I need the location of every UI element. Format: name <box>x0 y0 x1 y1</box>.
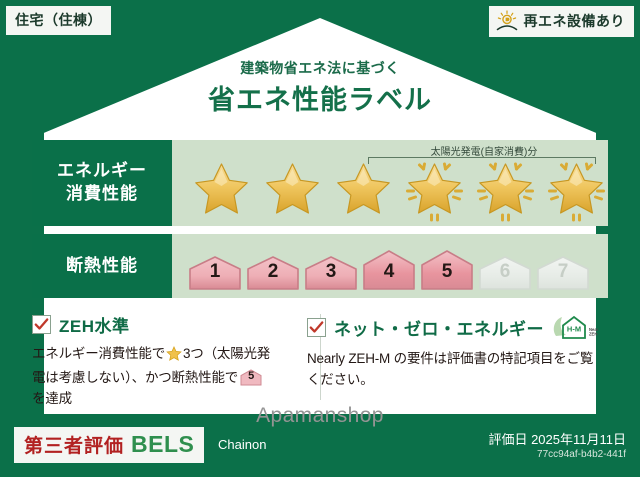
evaluation-id: 77cc94af-b4b2-441f <box>537 449 626 460</box>
bels-jp-label: 第三者評価 <box>24 431 124 458</box>
inline-grade-value: 5 <box>240 368 262 385</box>
energy-key-line1: エネルギー <box>57 160 147 183</box>
solar-annotation-label: 太陽光発電(自家消費)分 <box>368 143 600 158</box>
insulation-key-label: 断熱性能 <box>66 255 138 278</box>
insulation-grade-4: 4 <box>362 249 416 291</box>
bels-badge: 第三者評価 BELS <box>14 427 204 463</box>
zeh-m-logo-icon: H-M Nearly ZEH-M <box>552 312 598 342</box>
insulation-grade-6: 6 <box>478 255 532 291</box>
insulation-grade-2: 2 <box>246 255 300 291</box>
energy-performance-label: 住宅（住棟） 再エネ設備あり 建築物省エネ法に基づく 省エネ性能ラベル <box>0 0 640 477</box>
svg-text:ZEH-M: ZEH-M <box>589 332 598 337</box>
net-zero-energy-title: ネット・ゼロ・エネルギー <box>334 315 544 340</box>
insulation-grade-5: 5 <box>420 249 474 291</box>
zeh-body-part1: エネルギー消費性能で <box>32 346 165 361</box>
renewable-energy-label: 再エネ設備あり <box>524 11 626 31</box>
check-icon <box>32 315 51 334</box>
insulation-grade-7: 7 <box>536 255 590 291</box>
insulation-grade-scale: 1 2 <box>188 234 600 298</box>
insulation-grade-1: 1 <box>188 255 242 291</box>
svg-text:H-M: H-M <box>567 325 581 334</box>
net-zero-energy-header: ネット・ゼロ・エネルギー H-M Nearly ZEH-M <box>307 312 598 342</box>
insulation-grade-value: 1 <box>188 261 242 283</box>
evaluation-date: 評価日 2025年11月11日 <box>488 429 626 448</box>
page-title: 省エネ性能ラベル <box>0 78 640 117</box>
label-subtitle: 建築物省エネ法に基づく <box>0 58 640 78</box>
star-rating <box>186 158 602 224</box>
star-icon <box>257 160 328 222</box>
zeh-standard-panel: ZEH水準 エネルギー消費性能で3つ（太陽光発電は考慮しない）、かつ断熱性能で5… <box>32 312 285 404</box>
building-type-label: 住宅（住棟） <box>15 10 102 30</box>
insulation-performance-value: 1 2 <box>172 234 608 298</box>
inline-grade-badge: 5 <box>240 369 262 386</box>
inline-star-icon <box>166 346 182 368</box>
company-name: Chainon <box>218 437 266 452</box>
star-icon <box>186 160 257 222</box>
insulation-grade-value: 7 <box>536 261 590 283</box>
insulation-grade-value: 5 <box>420 261 474 283</box>
building-type-tag: 住宅（住棟） <box>6 6 111 35</box>
energy-key-line2: 消費性能 <box>66 183 138 206</box>
insulation-grade-value: 4 <box>362 261 416 283</box>
sun-icon <box>495 10 519 32</box>
energy-performance-value: 太陽光発電(自家消費)分 <box>172 140 608 226</box>
renewable-energy-tag: 再エネ設備あり <box>489 6 635 37</box>
zeh-standard-body: エネルギー消費性能で3つ（太陽光発電は考慮しない）、かつ断熱性能で5を達成 <box>32 344 275 410</box>
net-zero-energy-panel: ネット・ゼロ・エネルギー H-M Nearly ZEH-M Nearly ZEH… <box>285 312 608 404</box>
energy-performance-key: エネルギー 消費性能 <box>32 140 172 226</box>
insulation-grade-value: 6 <box>478 261 532 283</box>
zeh-standard-header: ZEH水準 <box>32 312 275 337</box>
insulation-grade-value: 2 <box>246 261 300 283</box>
bels-en-label: BELS <box>131 431 194 458</box>
insulation-performance-key: 断熱性能 <box>32 234 172 298</box>
zeh-body-part3: を達成 <box>32 391 72 406</box>
check-icon <box>307 318 326 337</box>
zeh-standard-title: ZEH水準 <box>59 312 130 337</box>
energy-performance-row: エネルギー 消費性能 太陽光発電(自家消費)分 <box>32 140 608 226</box>
star-icon-solar <box>399 160 470 222</box>
star-icon <box>328 160 399 222</box>
label-footer: 第三者評価 BELS Chainon 評価日 2025年11月11日 77cc9… <box>0 419 640 477</box>
net-zero-energy-body: Nearly ZEH-M の要件は評価書の特記項目をご覧ください。 <box>307 349 598 391</box>
insulation-grade-value: 3 <box>304 261 358 283</box>
certification-panels: ZEH水準 エネルギー消費性能で3つ（太陽光発電は考慮しない）、かつ断熱性能で5… <box>32 312 608 404</box>
star-icon-solar <box>541 160 612 222</box>
star-icon-solar <box>470 160 541 222</box>
insulation-performance-row: 断熱性能 1 <box>32 234 608 298</box>
insulation-grade-3: 3 <box>304 255 358 291</box>
